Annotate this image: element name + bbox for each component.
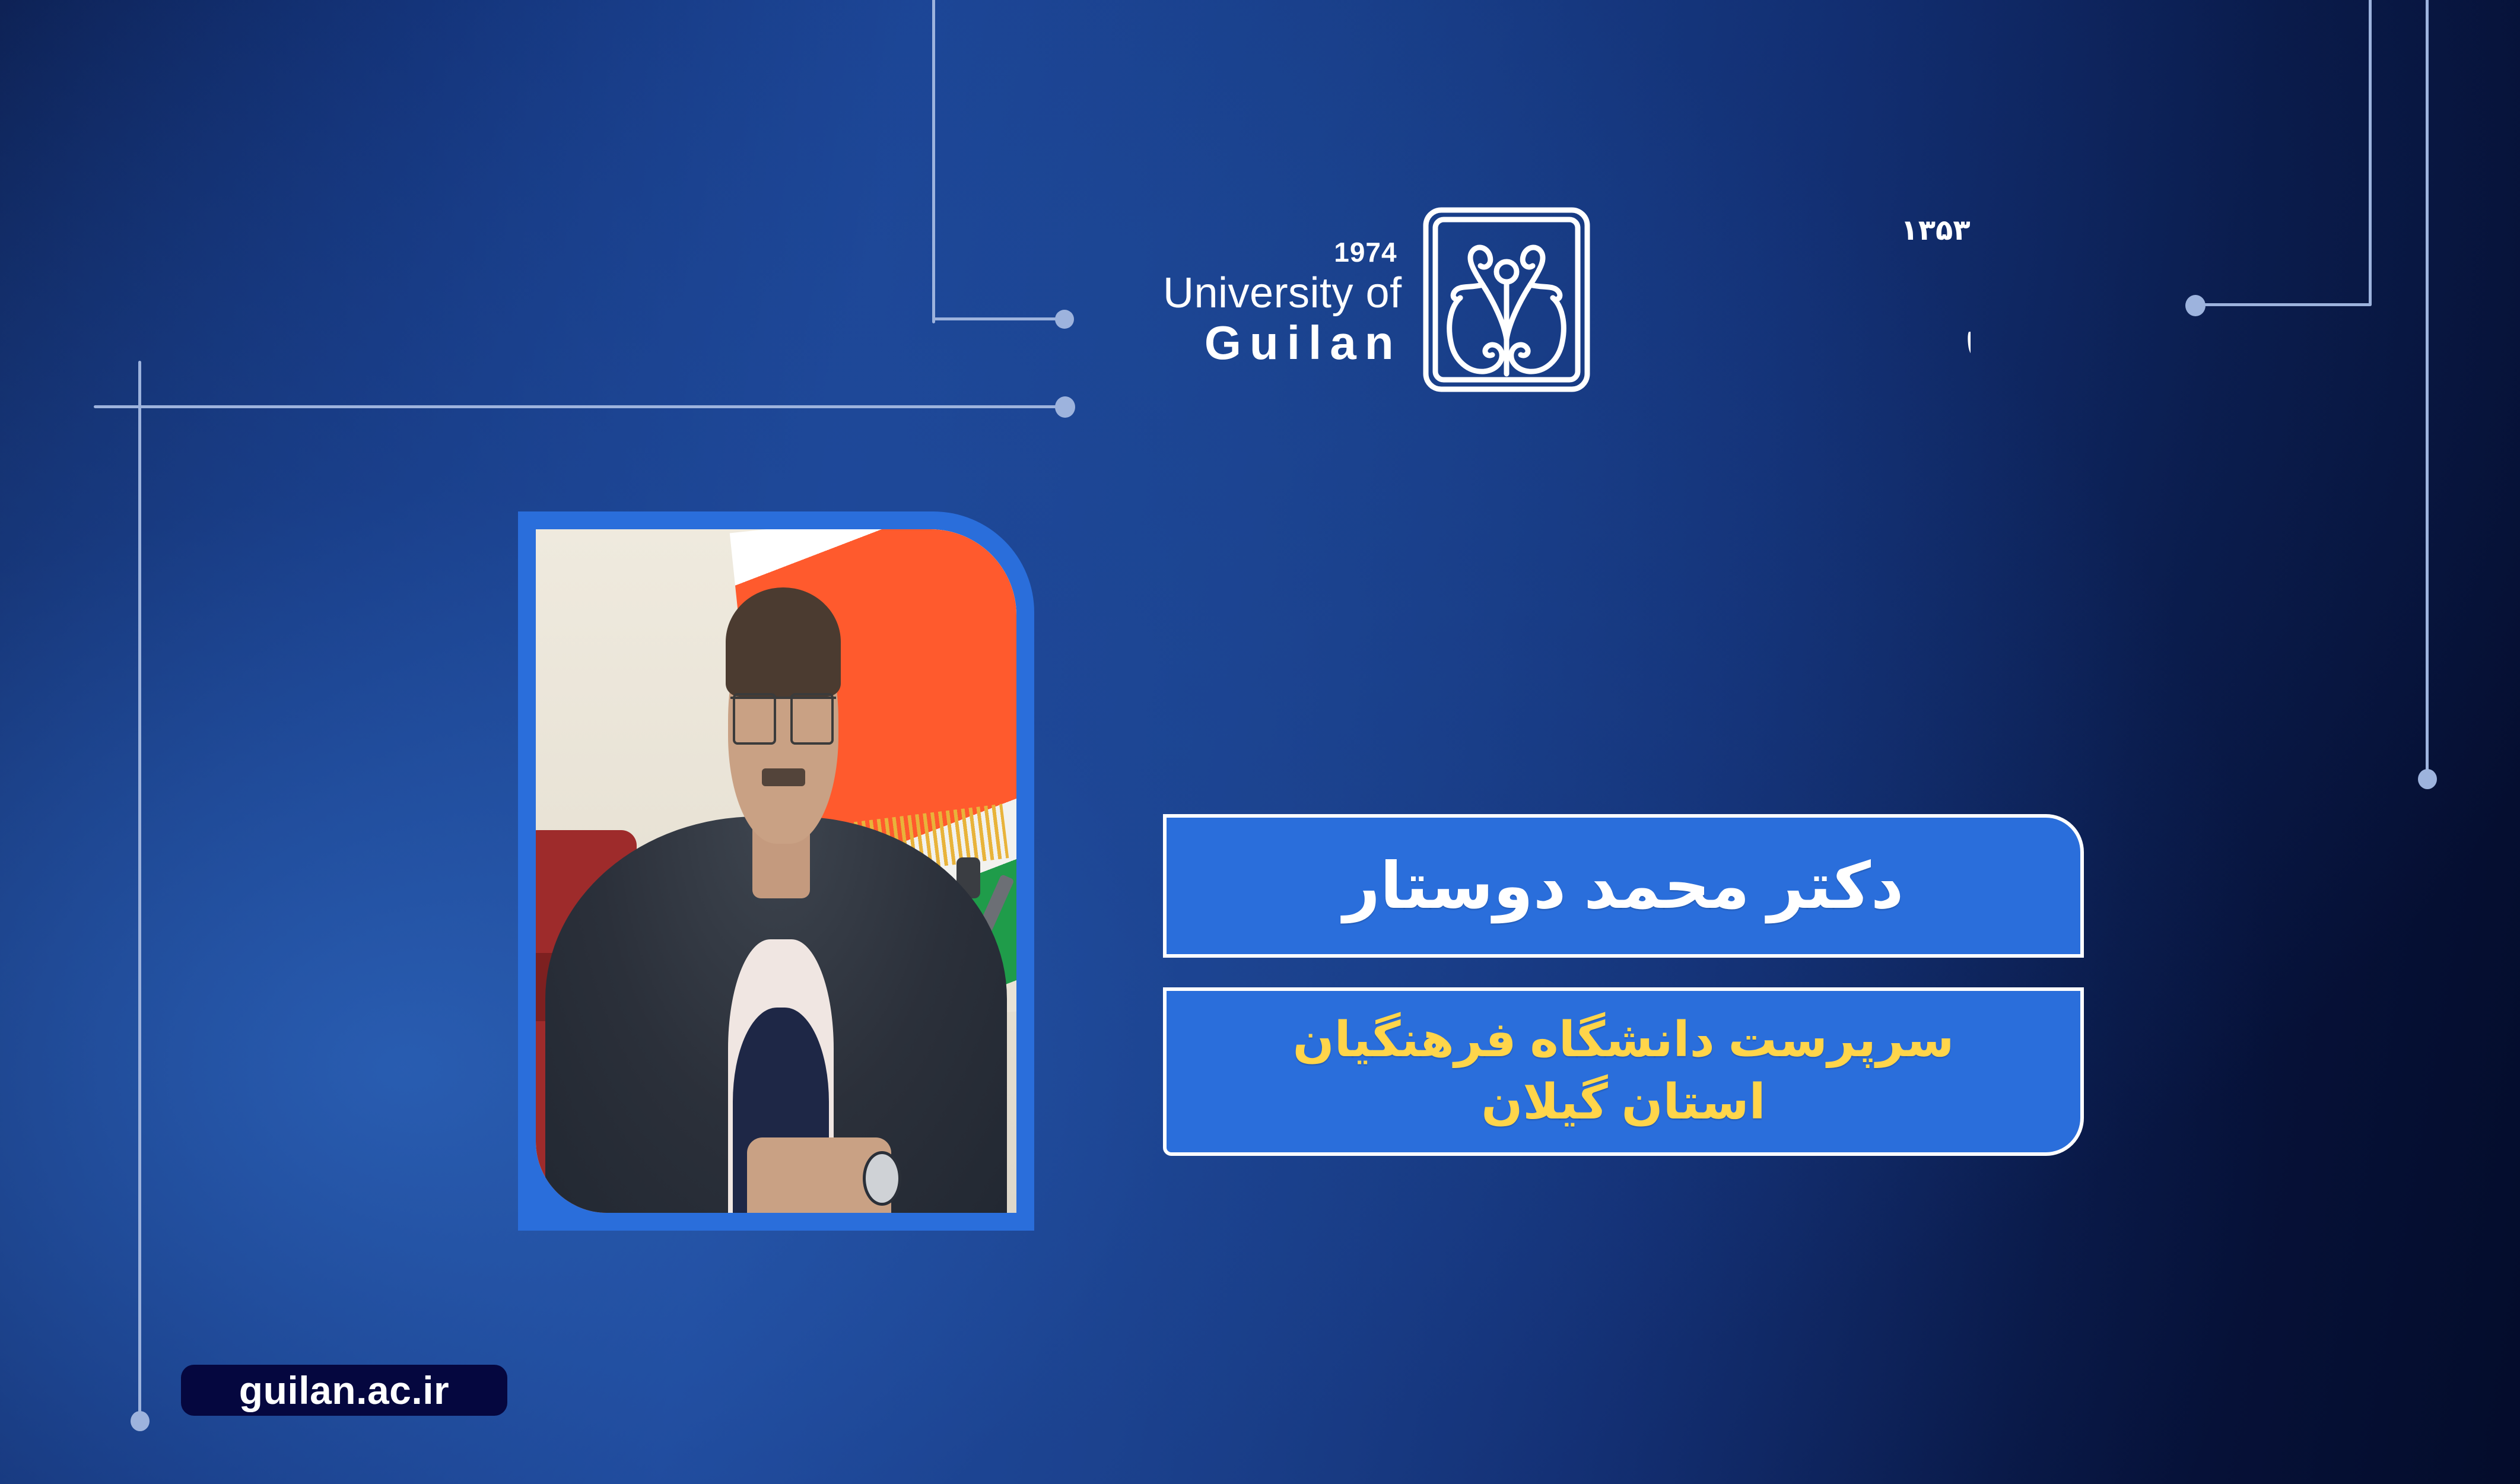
person-role-banner: سرپرست دانشگاه فرهنگیان استان گیلان bbox=[1163, 987, 2084, 1156]
logo-year-gregorian: 1974 bbox=[1334, 239, 1397, 266]
university-logo: 1974 University of Guilan ۱۳۵۳ bbox=[1163, 202, 1971, 403]
deco-line-left-horizontal bbox=[94, 405, 1064, 408]
person-name-text: دکتر محمد دوستار bbox=[1343, 849, 1904, 923]
guilan-university-emblem-icon bbox=[1418, 202, 1601, 403]
logo-year-persian: ۱۳۵۳ bbox=[1901, 214, 1970, 247]
person-role-text: سرپرست دانشگاه فرهنگیان استان گیلان bbox=[1293, 1009, 1955, 1134]
deco-line-top-left-horizontal bbox=[932, 317, 1058, 320]
person-name-banner: دکتر محمد دوستار bbox=[1163, 814, 2084, 958]
announcement-banner: 1974 University of Guilan ۱۳۵۳ bbox=[0, 0, 2520, 1484]
deco-dot-left-vertical-end bbox=[131, 1411, 150, 1431]
svg-text:دانشگاه گیلان: دانشگاه گیلان bbox=[1955, 243, 1970, 373]
deco-line-left-vertical bbox=[138, 361, 141, 1418]
portrait-photo bbox=[536, 529, 1016, 1213]
deco-line-top-right-horizontal bbox=[2198, 303, 2372, 306]
deco-line-top-left-vertical bbox=[932, 0, 935, 323]
logo-english-block: 1974 University of Guilan bbox=[1163, 239, 1402, 367]
deco-dot-top-right bbox=[2185, 295, 2206, 316]
logo-english-line1: University of bbox=[1163, 272, 1402, 314]
deco-dot-right-vertical-end bbox=[2418, 769, 2437, 789]
website-url-text: guilan.ac.ir bbox=[239, 1368, 449, 1413]
deco-line-right-vertical bbox=[2426, 0, 2429, 773]
person-role-line2: استان گیلان bbox=[1293, 1072, 1955, 1134]
person-role-line1: سرپرست دانشگاه فرهنگیان bbox=[1293, 1009, 1955, 1072]
logo-persian-name: دانشگاه گیلان bbox=[1615, 243, 1971, 392]
deco-dot-top-left bbox=[1055, 310, 1074, 329]
deco-line-top-right-vertical bbox=[2369, 0, 2372, 306]
website-badge[interactable]: guilan.ac.ir bbox=[181, 1365, 507, 1416]
logo-english-line2: Guilan bbox=[1205, 319, 1402, 367]
logo-persian-block: ۱۳۵۳ دانشگاه گیلان bbox=[1615, 214, 1971, 392]
portrait-frame bbox=[518, 511, 1034, 1231]
deco-dot-left-horizontal-end bbox=[1055, 396, 1075, 418]
